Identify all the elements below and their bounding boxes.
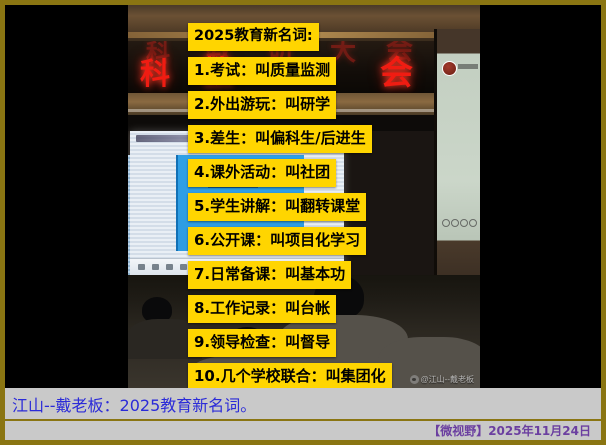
overlay-line-title: 2025教育新名词: <box>188 23 319 51</box>
overlay-line-item-3: 3.差生：叫偏科生/后进生 <box>188 125 372 153</box>
overlay-line-item-4: 4.课外活动：叫社团 <box>188 159 336 187</box>
overlay-line-item-5: 5.学生讲解：叫翻转课堂 <box>188 193 366 221</box>
overlay-line-item-2: 2.外出游玩：叫研学 <box>188 91 336 119</box>
overlay-line-item-1: 1.考试：叫质量监测 <box>188 57 336 85</box>
video-stage[interactable]: 科 教 研 大 会 科 教 会 <box>5 5 601 388</box>
post-caption-text: 江山--戴老板：2025教育新名词。 <box>12 392 256 416</box>
overlay-line-item-7: 7.日常备课：叫基本功 <box>188 261 351 289</box>
overlay-line-item-10: 10.几个学校联合：叫集团化 <box>188 363 392 388</box>
footer-source-date: 【微视野】2025年11月24日 <box>428 422 591 439</box>
overlay-line-item-8: 8.工作记录：叫台帐 <box>188 295 336 323</box>
overlay-line-item-9: 9.领导检查：叫督导 <box>188 329 336 357</box>
overlay-caption-stack: 2025教育新名词: 1.考试：叫质量监测 2.外出游玩：叫研学 3.差生：叫偏… <box>188 23 488 388</box>
footer-bar: 【微视野】2025年11月24日 <box>5 421 601 440</box>
post-caption-bar: 江山--戴老板：2025教育新名词。 <box>5 388 601 419</box>
overlay-line-item-6: 6.公开课：叫项目化学习 <box>188 227 366 255</box>
led-main-char: 科 <box>140 49 170 93</box>
window-blinds <box>128 155 130 275</box>
screenshot-frame: 科 教 研 大 会 科 教 会 <box>0 0 606 445</box>
